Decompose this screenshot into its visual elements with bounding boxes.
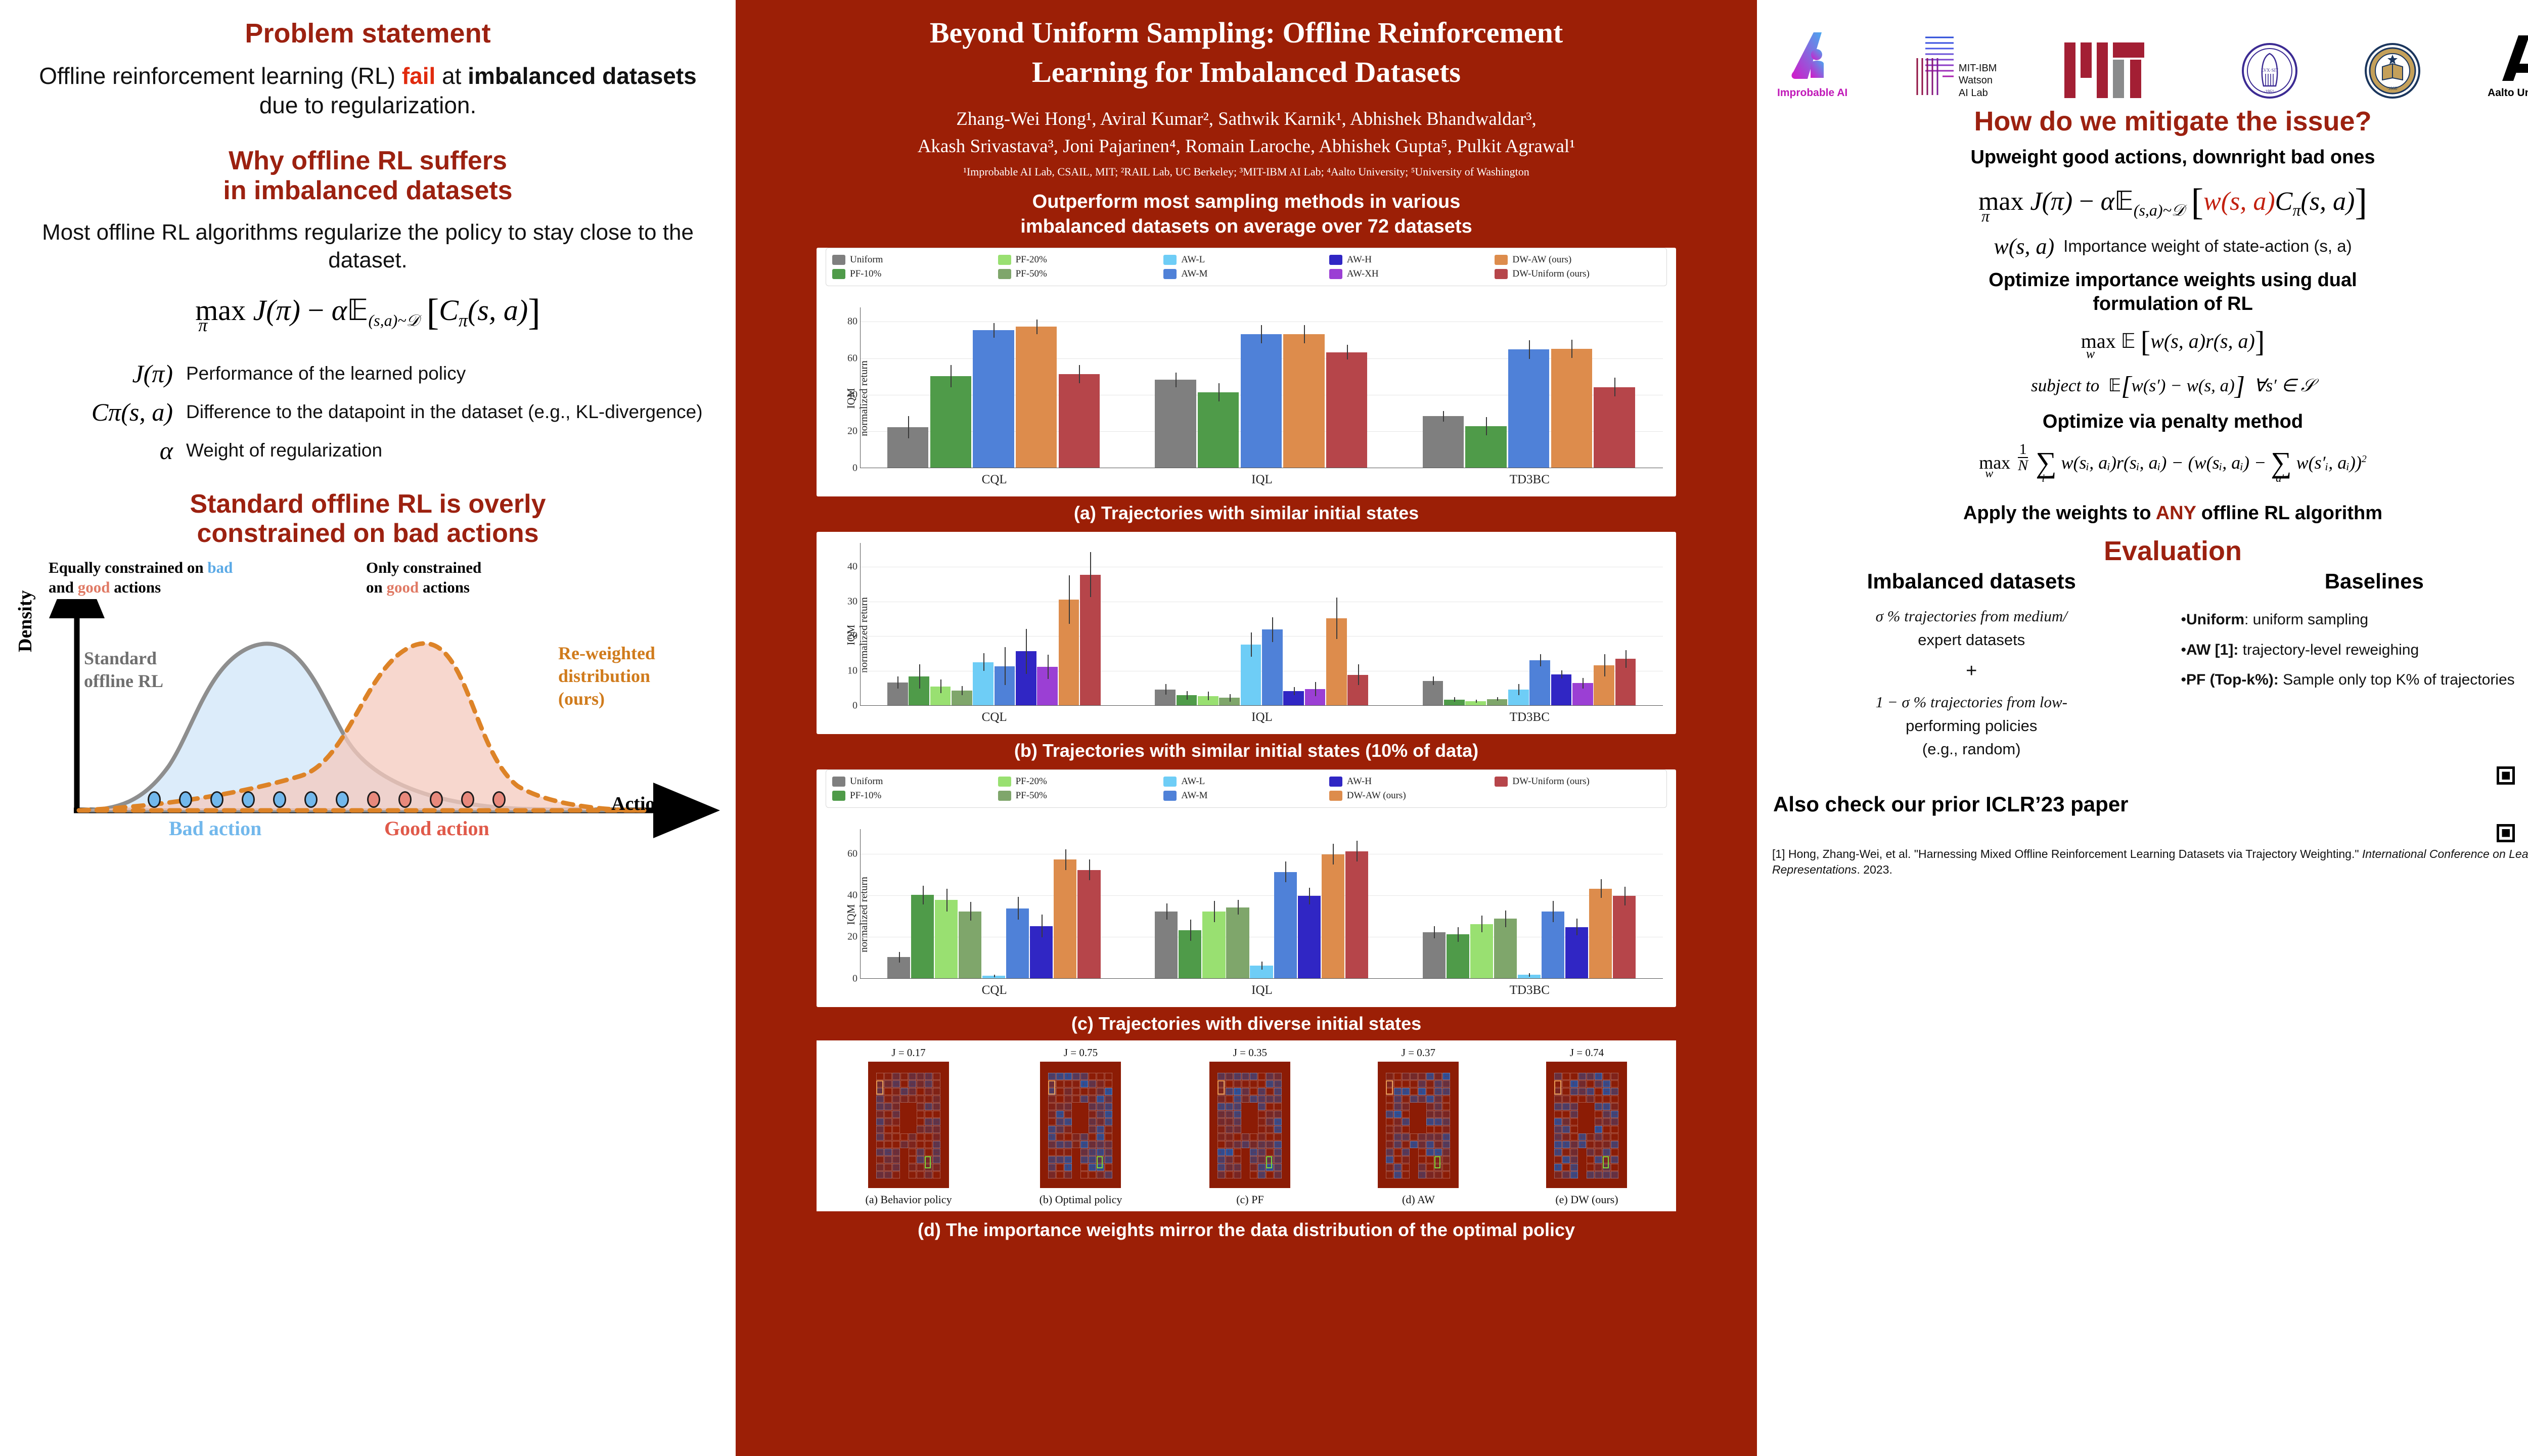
maze-action-arrow: ↓: [1268, 1073, 1270, 1079]
evaluation-baselines-column: Baselines •Uniform: uniform sampling•AW …: [2173, 569, 2528, 761]
maze-action-arrow: ←: [1268, 1149, 1273, 1155]
maze-action-arrow: ←: [886, 1142, 891, 1147]
maze-action-arrow: ←: [1580, 1096, 1585, 1102]
dual-line-1: Optimize importance weights using dual: [1770, 268, 2528, 293]
maze-action-arrow: →: [918, 1157, 923, 1162]
eqr1-subscript: (s,a)~𝒟: [2134, 201, 2185, 219]
logo-aalto-label: Aalto University: [2488, 87, 2528, 99]
maze-action-arrow: ←: [1251, 1134, 1256, 1140]
maze-action-arrow: ↓: [1436, 1142, 1438, 1147]
maze-action-arrow: ↓: [918, 1088, 921, 1094]
maze-action-arrow: ↓: [1276, 1096, 1278, 1102]
maze-action-arrow: ↓: [1276, 1073, 1278, 1079]
legend-label: PF-10%: [850, 790, 881, 801]
maze-action-arrow: ↑: [1444, 1172, 1447, 1177]
maze-action-arrow: ↑: [1227, 1134, 1230, 1140]
dual-line-2: formulation of RL: [1770, 292, 2528, 316]
penalty-objective-equation: maxw 1 N ∑i w(sᵢ, aᵢ)r(sᵢ, aᵢ) − (w(sᵢ, …: [1770, 442, 2528, 490]
maze-action-arrow: ↑: [1227, 1119, 1230, 1124]
maze-action-arrow: ↓: [1404, 1111, 1406, 1117]
maze-action-arrow: ↑: [1090, 1134, 1093, 1140]
maze-action-arrow: ←: [1074, 1073, 1079, 1079]
maze-action-arrow: ←: [1098, 1134, 1103, 1140]
eqr2-body: w(s, a)r(s, a): [2150, 330, 2255, 352]
chart-plot-area: IQMnormalized return020406080CQLIQLTD3BC: [817, 300, 1676, 496]
results-subheading-line2: imbalanced datasets on average over 72 d…: [806, 214, 1686, 239]
note-left-bad: bad: [207, 559, 233, 576]
maze-action-arrow: ↓: [886, 1157, 888, 1162]
maze-action-arrow: ↑: [1612, 1096, 1615, 1102]
error-bar: [1261, 962, 1262, 970]
logo-improbable-label: Improbable AI: [1777, 87, 1847, 99]
maze-action-arrow: ←: [1412, 1096, 1417, 1102]
maze-action-arrow: →: [1082, 1073, 1087, 1079]
maze-action-arrow: ↓: [1106, 1149, 1109, 1155]
maze-action-arrow: ↓: [1596, 1096, 1599, 1102]
maze-action-arrow: →: [1395, 1142, 1401, 1147]
eval-left-line3: 1 − σ % trajectories from low-: [1778, 691, 2165, 714]
aalto-icon: [2498, 32, 2528, 85]
maze-action-arrow: ↑: [1395, 1119, 1398, 1124]
maze-action-arrow: →: [1235, 1111, 1240, 1117]
bad-action-dot: [336, 791, 349, 808]
maze-action-arrow: ←: [1058, 1149, 1063, 1155]
error-bar: [1309, 888, 1310, 904]
maze-action-arrow: ↑: [1066, 1111, 1068, 1117]
gridline: [861, 602, 1663, 602]
legend-swatch: [1329, 791, 1342, 801]
maze-action-arrow: ←: [1428, 1119, 1433, 1124]
maze-action-arrow: ←: [1588, 1088, 1593, 1094]
maze-action-arrow: →: [1436, 1073, 1441, 1079]
error-bar: [919, 664, 920, 689]
eqr1-bracket-open: [: [2191, 181, 2203, 223]
maze-action-arrow: ↓: [1235, 1081, 1238, 1086]
maze-action-arrow: ←: [1420, 1164, 1425, 1170]
maze-action-arrow: ←: [1268, 1119, 1273, 1124]
maze-action-arrow: →: [1428, 1096, 1433, 1102]
maze-action-arrow: ↑: [1098, 1149, 1101, 1155]
maze-action-arrow: ↓: [1082, 1081, 1085, 1086]
maze-action-arrow: ↓: [1564, 1088, 1566, 1094]
maze-action-arrow: →: [1259, 1096, 1265, 1102]
maze-action-arrow: →: [1090, 1096, 1095, 1102]
chart-bar: [959, 912, 981, 978]
maze-action-arrow: ↑: [1572, 1081, 1574, 1086]
maze-action-arrow: ←: [918, 1081, 923, 1086]
legend-swatch: [998, 777, 1011, 787]
maze-action-arrow: ←: [1235, 1164, 1240, 1170]
bad-action-dot: [304, 791, 318, 808]
maze-action-arrow: →: [1436, 1134, 1441, 1140]
action-dots-row: [148, 791, 506, 808]
maze-action-arrow: ←: [1612, 1172, 1617, 1177]
chart-card-a: UniformPF-20%AW-LAW-HDW-AW (ours)PF-10%P…: [817, 248, 1676, 496]
maze-action-arrow: ←: [1412, 1073, 1417, 1079]
maze-action-arrow: ↑: [1066, 1073, 1068, 1079]
maze-action-arrow: ←: [894, 1073, 899, 1079]
maze-action-arrow: ←: [910, 1081, 915, 1086]
maze-action-arrow: ←: [926, 1142, 931, 1147]
maze-action-arrow: ↓: [1268, 1096, 1270, 1102]
maze-action-arrow: ←: [1572, 1126, 1577, 1132]
chart-axes: 020406080CQLIQLTD3BC: [860, 307, 1663, 468]
error-bar: [1304, 325, 1305, 343]
affiliations: ¹Improbable AI Lab, CSAIL, MIT; ²RAIL La…: [736, 160, 1757, 178]
legend-label: Uniform: [850, 776, 883, 787]
maze-caption: (e) DW (ours): [1555, 1193, 1618, 1206]
x-tick-label: TD3BC: [1510, 710, 1550, 724]
error-bar: [1601, 879, 1602, 898]
maze-action-arrow: →: [878, 1149, 883, 1155]
legend-label: AW-H: [1347, 254, 1372, 265]
maze-action-arrow: ←: [1106, 1126, 1111, 1132]
x-tick-label: CQL: [982, 473, 1007, 487]
maze-action-arrow: →: [894, 1081, 899, 1086]
maze-action-arrow: ↑: [1596, 1111, 1599, 1117]
error-bar: [1443, 411, 1444, 422]
legend-item: PF-50%: [998, 268, 1164, 280]
maze-action-arrow: ←: [894, 1104, 899, 1109]
maze-action-arrow: →: [1227, 1073, 1232, 1079]
maze-action-arrow: →: [1404, 1134, 1409, 1140]
error-bar: [1315, 682, 1316, 696]
error-bar: [1476, 700, 1477, 702]
maze-goal-marker: [925, 1156, 931, 1168]
maze-action-arrow: ↑: [1572, 1073, 1574, 1079]
maze-action-arrow: →: [1564, 1164, 1569, 1170]
baseline-item: •PF (Top-k%): Sample only top K% of traj…: [2181, 666, 2528, 694]
authors-line1: Zhang-Wei Hong¹, Aviral Kumar², Sathwik …: [751, 106, 1742, 133]
error-bar: [1018, 897, 1019, 920]
evaluation-datasets-column: Imbalanced datasets σ % trajectories fro…: [1770, 569, 2173, 761]
maze-action-arrow: ↑: [1058, 1081, 1060, 1086]
maze-action-arrow: ↑: [1050, 1134, 1052, 1140]
maze-action-arrow: ↑: [934, 1157, 937, 1162]
x-tick-label: CQL: [982, 983, 1007, 997]
good-action-dot: [461, 791, 474, 808]
maze-action-arrow: ←: [1604, 1088, 1609, 1094]
maze-action-arrow: →: [1227, 1111, 1232, 1117]
maze-action-arrow: ↑: [918, 1126, 921, 1132]
maze-action-arrow: →: [1243, 1142, 1248, 1147]
baseline-name: PF (Top-k%):: [2186, 671, 2279, 688]
problem-statement-title: Problem statement: [17, 18, 718, 49]
maze-action-arrow: ↓: [1387, 1073, 1390, 1079]
maze-action-arrow: ←: [1098, 1111, 1103, 1117]
curve-std-l2: offline RL: [84, 670, 163, 693]
eq1-E: 𝔼: [347, 294, 368, 327]
error-bar: [1626, 650, 1627, 667]
legend-label: PF-50%: [1016, 790, 1047, 801]
maze-action-arrow: ↓: [1098, 1081, 1101, 1086]
error-bar: [899, 952, 900, 963]
maze-action-arrow: ↑: [1404, 1119, 1406, 1124]
note-left-text1: Equally constrained on: [49, 559, 207, 576]
bad-action-dot: [242, 791, 255, 808]
chart-bar: [1054, 859, 1076, 978]
maze-start-marker: [876, 1080, 883, 1095]
maze-action-arrow: ↓: [1268, 1111, 1270, 1117]
maze-action-arrow: ←: [1596, 1119, 1601, 1124]
eqr3-bracket-close: ]: [2235, 372, 2245, 400]
eqr1-bracket-close: ]: [2355, 181, 2367, 223]
eval-left-plus: +: [1778, 657, 2165, 686]
error-bar: [1486, 417, 1487, 435]
maze-action-arrow: ←: [1387, 1096, 1392, 1102]
right-column: Improbable AI: [1757, 0, 2528, 1456]
maze-action-arrow: ↓: [1604, 1104, 1607, 1109]
maze-action-arrow: ←: [1444, 1073, 1449, 1079]
chart-bar: [1613, 896, 1636, 978]
maze-action-arrow: ↑: [1050, 1142, 1052, 1147]
maze-action-arrow: →: [1436, 1111, 1441, 1117]
constraint-equation: subject to 𝔼[w(s′) − w(s, a)] ∀s′ ∈ 𝒮: [1770, 371, 2528, 401]
maze-action-arrow: ↑: [1106, 1164, 1109, 1170]
maze-action-arrow: ↓: [886, 1096, 888, 1102]
chart-bar: [1508, 349, 1549, 467]
legend-swatch: [832, 777, 845, 787]
density-x-axis-label: Action: [611, 793, 666, 815]
error-bar: [994, 975, 995, 977]
maze-action-arrow: →: [1604, 1142, 1609, 1147]
maze-action-arrow: ←: [1074, 1142, 1079, 1147]
error-bar: [1571, 340, 1572, 358]
maze-action-arrow: ↑: [1564, 1142, 1566, 1147]
maze-action-arrow: ↓: [1058, 1104, 1060, 1109]
error-bar: [1529, 973, 1530, 977]
university-of-washington-seal-icon: LVX·SIT ·1861·: [2241, 42, 2298, 99]
maze-action-arrow: ↑: [1276, 1104, 1278, 1109]
maze-action-arrow: ↓: [1420, 1157, 1422, 1162]
legend-swatch: [1329, 777, 1342, 787]
maze-action-arrow: ←: [1235, 1142, 1240, 1147]
chart-bar: [1155, 912, 1178, 978]
error-bar: [1261, 325, 1262, 343]
chart-bar: [1298, 896, 1321, 978]
maze-action-arrow: ←: [1596, 1149, 1601, 1155]
why-offline-rl-body: Most offline RL algorithms regularize th…: [17, 218, 718, 274]
maze-action-arrow: ↓: [1235, 1172, 1238, 1177]
maze-action-arrow: ↓: [918, 1149, 921, 1155]
maze-action-arrow: ↑: [1227, 1142, 1230, 1147]
chart-bar: [930, 376, 971, 468]
error-bar: [983, 653, 984, 671]
error-bar: [1065, 849, 1066, 870]
maze-action-arrow: ↑: [1412, 1081, 1414, 1086]
error-bar: [1230, 694, 1231, 702]
baseline-name: AW [1]:: [2186, 642, 2238, 658]
eqr1-C: Cπ(s, a): [2275, 187, 2355, 216]
upweight-line: Upweight good actions, downright bad one…: [1770, 146, 2528, 170]
maze-action-arrow: ↑: [926, 1073, 929, 1079]
maze-action-arrow: ←: [1572, 1088, 1577, 1094]
maze-action-arrow: ↑: [1227, 1172, 1230, 1177]
error-bar: [1358, 664, 1359, 685]
maze-action-arrow: ↓: [1219, 1149, 1222, 1155]
legend-swatch: [1163, 791, 1177, 801]
legend-item: AW-L: [1163, 776, 1329, 787]
maze-action-arrow: ←: [1276, 1142, 1281, 1147]
maze-start-marker: [1386, 1080, 1393, 1095]
authors-line2: Akash Srivastava³, Joni Pajarinen⁴, Roma…: [751, 133, 1742, 160]
bullet-icon: •: [2181, 642, 2187, 658]
error-bar: [1614, 378, 1615, 396]
maze-action-arrow: ↓: [1219, 1073, 1222, 1079]
baseline-item: •AW [1]: trajectory-level reweighing: [2181, 636, 2528, 664]
maze-action-arrow: ←: [1395, 1172, 1401, 1177]
chart-axes: 0204060CQLIQLTD3BC: [860, 829, 1663, 979]
maze-action-arrow: ↑: [886, 1172, 888, 1177]
maze-action-arrow: ↑: [1564, 1126, 1566, 1132]
maze-action-arrow: →: [1612, 1088, 1617, 1094]
std-title-line1: Standard offline RL is overly: [17, 489, 718, 519]
maze-action-arrow: →: [1058, 1164, 1063, 1170]
maze-action-arrow: ↑: [1058, 1119, 1060, 1124]
maze-action-arrow: ←: [934, 1149, 939, 1155]
ps-text-2: at: [435, 63, 468, 89]
curve-rw-l1: Re-weighted: [558, 642, 655, 665]
error-bar: [1026, 629, 1027, 674]
maze-action-arrow: ↑: [1395, 1126, 1398, 1132]
maze-action-arrow: →: [1090, 1157, 1095, 1162]
error-bar: [1089, 859, 1090, 880]
maze-action-arrow: ←: [1556, 1119, 1561, 1124]
maze-caption: (d) AW: [1402, 1193, 1435, 1206]
legend-item: PF-10%: [832, 790, 998, 801]
maze-action-arrow: ↑: [1572, 1111, 1574, 1117]
maze-action-arrow: →: [1082, 1096, 1087, 1102]
maze-action-arrow: →: [1404, 1081, 1409, 1086]
maze-action-arrow: →: [1276, 1157, 1281, 1162]
maze-action-arrow: ↓: [918, 1096, 921, 1102]
maze-action-arrow: ←: [910, 1172, 915, 1177]
y-tick-label: 40: [847, 389, 857, 400]
error-bar: [1604, 654, 1605, 676]
maze-action-arrow: ↓: [1387, 1164, 1390, 1170]
baselines-list: •Uniform: uniform sampling•AW [1]: traje…: [2181, 606, 2528, 694]
maze-action-arrow: ↓: [1580, 1134, 1583, 1140]
baselines-heading: Baselines: [2181, 569, 2528, 594]
maze-action-arrow: →: [1556, 1172, 1561, 1177]
maze-panel: J = 0.35↓→→←↑←↓↓↑↑↓←↑→↑↓→↑↑↓↑→→↓↓→←→→→↓↓…: [1209, 1046, 1290, 1206]
dual-max-equation: maxw 𝔼 [w(s, a)r(s, a)]: [1770, 325, 2528, 364]
imbalanced-datasets-body: σ % trajectories from medium/ expert dat…: [1778, 605, 2165, 761]
maze-action-arrow: ←: [1106, 1172, 1111, 1177]
maze-action-arrow: ←: [1050, 1149, 1055, 1155]
maze-action-arrow: →: [1090, 1164, 1095, 1170]
good-action-dot: [398, 791, 412, 808]
maze-action-arrow: ↑: [1556, 1157, 1558, 1162]
bad-action-dot: [210, 791, 223, 808]
maze-action-arrow: ←: [934, 1134, 939, 1140]
legend-label: AW-L: [1181, 776, 1205, 787]
note-left-text3: actions: [110, 578, 161, 596]
curve-rw-l3: (ours): [558, 688, 655, 710]
maze-action-arrow: ←: [1428, 1088, 1433, 1094]
definition-description: Difference to the datapoint in the datas…: [186, 401, 718, 423]
maze-action-arrow: →: [1098, 1172, 1103, 1177]
legend-swatch: [1495, 255, 1508, 265]
maze-action-arrow: ↑: [878, 1142, 880, 1147]
maze-action-arrow: →: [1098, 1104, 1103, 1109]
chart-card-c: UniformPF-20%AW-LAW-HDW-Uniform (ours)PF…: [817, 769, 1676, 1007]
apply-weights-line: Apply the weights to ANY offline RL algo…: [1770, 502, 2528, 526]
maze-action-arrow: ↑: [1235, 1157, 1238, 1162]
maze-action-arrow: ↓: [886, 1111, 888, 1117]
maze-action-arrow: ↓: [1050, 1111, 1052, 1117]
maze-action-arrow: ←: [1444, 1164, 1449, 1170]
error-bar: [1576, 919, 1577, 935]
maze-action-arrow: ↑: [1556, 1111, 1558, 1117]
maze-action-arrow: ↑: [934, 1111, 937, 1117]
maze-action-arrow: ↓: [1387, 1104, 1390, 1109]
maze-action-arrow: ↓: [1219, 1119, 1222, 1124]
chart-bar: [1155, 380, 1196, 467]
maze-action-arrow: →: [1404, 1104, 1409, 1109]
maze-action-arrow: ←: [1050, 1157, 1055, 1162]
bullet-icon: •: [2181, 671, 2187, 688]
eq1-max: maxπ: [195, 293, 246, 327]
chart-bar: [1326, 352, 1367, 468]
maze-action-arrow: ↓: [934, 1104, 937, 1109]
qr-code-icon[interactable]: [2497, 766, 2528, 842]
maze-action-arrow: ↑: [1106, 1142, 1109, 1147]
maze-action-arrow: ↑: [1219, 1142, 1222, 1147]
error-bar: [1497, 697, 1498, 701]
maze-action-arrow: ←: [902, 1088, 907, 1094]
maze-action-arrow: ↑: [1106, 1073, 1109, 1079]
maze-action-arrow: →: [1580, 1088, 1585, 1094]
error-bar: [1005, 647, 1006, 685]
maze-action-arrow: →: [902, 1073, 907, 1079]
maze-action-arrow: ←: [1090, 1172, 1095, 1177]
chart-bar: [911, 895, 934, 978]
maze-action-arrow: ←: [1412, 1142, 1417, 1147]
maze-action-arrow: ←: [1564, 1119, 1569, 1124]
maze-action-arrow: ↓: [1082, 1157, 1085, 1162]
x-tick-label: IQL: [1251, 473, 1273, 487]
maze-action-arrow: ←: [1596, 1142, 1601, 1147]
legend-label: DW-Uniform (ours): [1512, 268, 1590, 280]
maze-action-arrow: ←: [1259, 1111, 1265, 1117]
maze-action-arrow: ←: [1604, 1096, 1609, 1102]
legend-swatch: [998, 269, 1011, 279]
eqr1-E: 𝔼: [2114, 187, 2134, 216]
maze-action-arrow: →: [1387, 1142, 1392, 1147]
maze-action-arrow: ↓: [1243, 1088, 1246, 1094]
maze-action-arrow: ↑: [1251, 1088, 1254, 1094]
maze-action-arrow: ↑: [1106, 1081, 1109, 1086]
maze-action-arrow: →: [1564, 1073, 1569, 1079]
legend-label: DW-Uniform (ours): [1512, 776, 1590, 787]
maze-action-arrow: ↓: [1058, 1126, 1060, 1132]
dual-formulation-heading: Optimize importance weights using dual f…: [1770, 268, 2528, 316]
maze-start-marker: [1048, 1080, 1055, 1095]
maze-action-arrow: ←: [1580, 1142, 1585, 1147]
maze-action-arrow: ↑: [1227, 1149, 1230, 1155]
maze-action-arrow: →: [1259, 1088, 1265, 1094]
eqr2-E: 𝔼: [2121, 330, 2141, 352]
definition-description: Performance of the learned policy: [186, 362, 718, 385]
maze-action-arrow: ↑: [934, 1096, 937, 1102]
maze-action-arrow: ↓: [1612, 1126, 1615, 1132]
error-bar: [897, 676, 898, 689]
chart-bar: [1016, 327, 1057, 467]
maze-action-arrow: ↑: [1404, 1126, 1406, 1132]
maze-action-arrow: ↓: [1604, 1149, 1607, 1155]
legend-swatch: [832, 255, 845, 265]
